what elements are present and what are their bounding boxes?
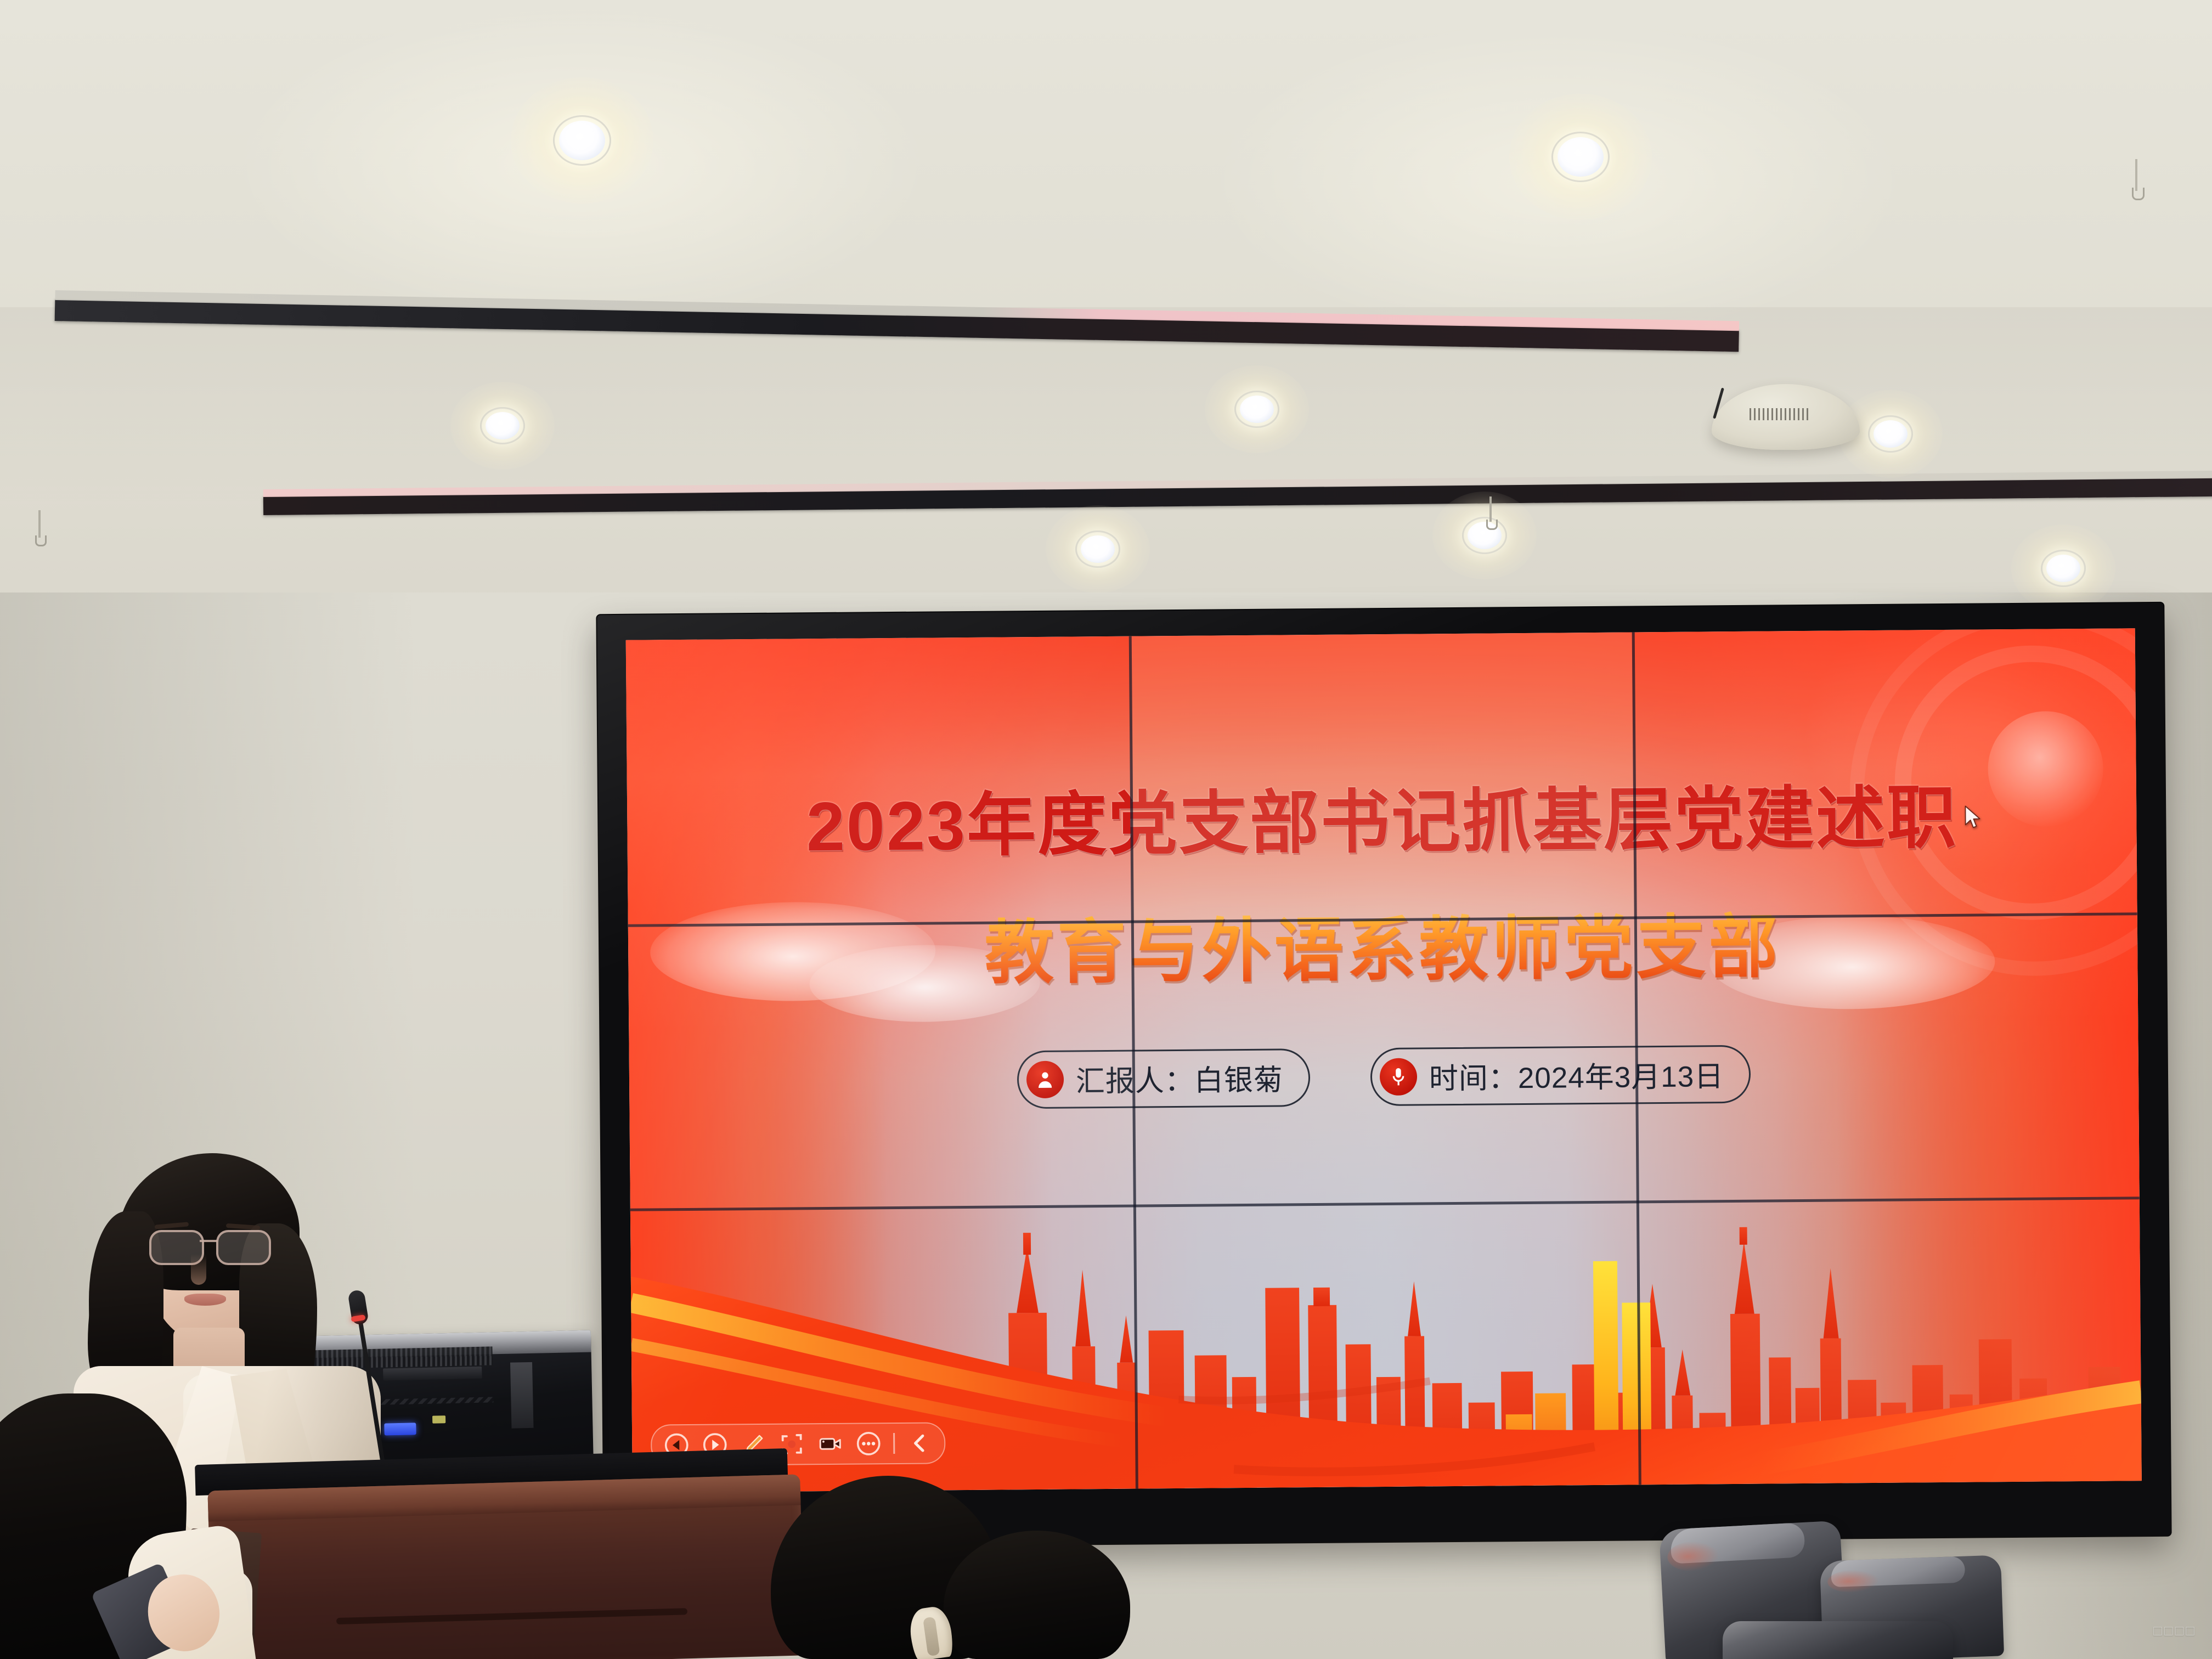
podium xyxy=(195,1448,793,1659)
video-camera-icon[interactable] xyxy=(815,1429,845,1459)
screen-surface[interactable]: 2023年度党支部书记抓基层党建述职 教育与外语系教师党支部 汇报人：白银菊 时… xyxy=(626,628,2142,1493)
slide-title: 2023年度党支部书记抓基层党建述职 xyxy=(627,760,2137,872)
microphone-icon xyxy=(1380,1058,1418,1096)
slide-subtitle: 教育与外语系教师党支部 xyxy=(628,888,2137,1000)
mouse-pointer-icon xyxy=(1963,804,1982,831)
person-icon xyxy=(1026,1060,1064,1098)
toolbar-divider xyxy=(893,1433,895,1454)
presentation-slide: 2023年度党支部书记抓基层党建述职 教育与外语系教师党支部 汇报人：白银菊 时… xyxy=(626,628,2142,1493)
ceiling-downlight xyxy=(1890,433,1891,434)
eyeglasses-icon xyxy=(148,1230,274,1264)
foreground-attendee xyxy=(0,1393,252,1659)
ceiling-downlight xyxy=(582,140,582,140)
ceiling-downlight xyxy=(1097,549,1098,549)
ceiling-downlight xyxy=(1256,409,1257,409)
ceiling-hook-icon xyxy=(1484,496,1498,529)
collapse-toolbar-button[interactable] xyxy=(904,1427,935,1458)
chair xyxy=(1723,1621,1953,1659)
slide-info-pills: 汇报人：白银菊 时间：2024年3月13日 xyxy=(629,1042,2139,1112)
date-label: 时间：2024年3月13日 xyxy=(1429,1053,1724,1097)
presenter-pill: 汇报人：白银菊 xyxy=(1017,1048,1310,1109)
ceiling-downlight xyxy=(2063,568,2063,568)
date-pill: 时间：2024年3月13日 xyxy=(1370,1045,1751,1105)
ceiling-downlight xyxy=(1580,156,1581,157)
presenter-label: 汇报人：白银菊 xyxy=(1076,1057,1284,1100)
ceiling-hook-icon xyxy=(33,510,47,545)
more-options-button[interactable] xyxy=(853,1428,884,1459)
conference-room-scene: 2023年度党支部书记抓基层党建述职 教育与外语系教师党支部 汇报人：白银菊 时… xyxy=(0,0,2212,1659)
ceiling-hook-icon xyxy=(2129,159,2145,198)
ceiling-downlight xyxy=(502,425,503,426)
photo-watermark: □□□□ xyxy=(2153,1622,2197,1639)
video-wall-display[interactable]: 2023年度党支部书记抓基层党建述职 教育与外语系教师党支部 汇报人：白银菊 时… xyxy=(597,603,2170,1548)
ceiling-downlight xyxy=(1484,535,1485,535)
